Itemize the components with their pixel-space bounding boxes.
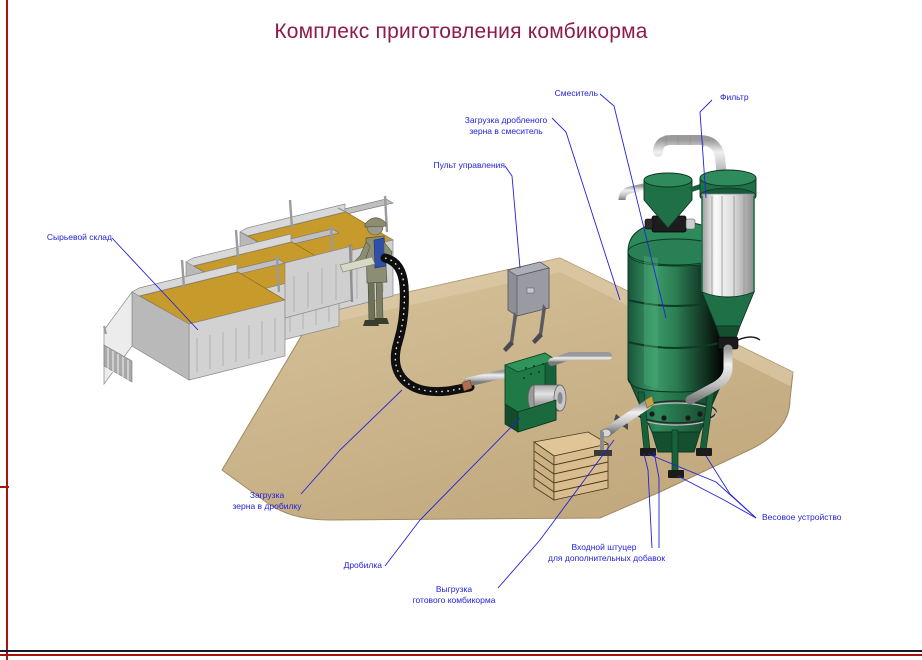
sack-stack [534, 432, 608, 500]
label-mixer: Смеситель [528, 88, 598, 99]
label-filter: Фильтр [720, 92, 790, 103]
label-crushed-grain-to-mixer: Загрузка дробленого зерна в смеситель [458, 115, 554, 136]
label-control-panel: Пульт управления [405, 160, 505, 171]
diagram-page: Комплекс приготовления комбикорма [0, 0, 922, 660]
label-additive-inlet: Входной штуцер для дополнительных добаво… [548, 542, 660, 563]
leader-control-panel [505, 166, 520, 268]
label-grain-to-crusher: Загрузка зерна в дробилку [228, 490, 306, 511]
label-raw-material-warehouse: Сырьевой склад [30, 232, 112, 243]
label-weighing-device: Весовое устройство [762, 512, 872, 523]
label-finished-feed-discharge: Выгрузка готового комбикорма [408, 584, 500, 605]
label-crusher: Дробилка [330, 560, 382, 571]
